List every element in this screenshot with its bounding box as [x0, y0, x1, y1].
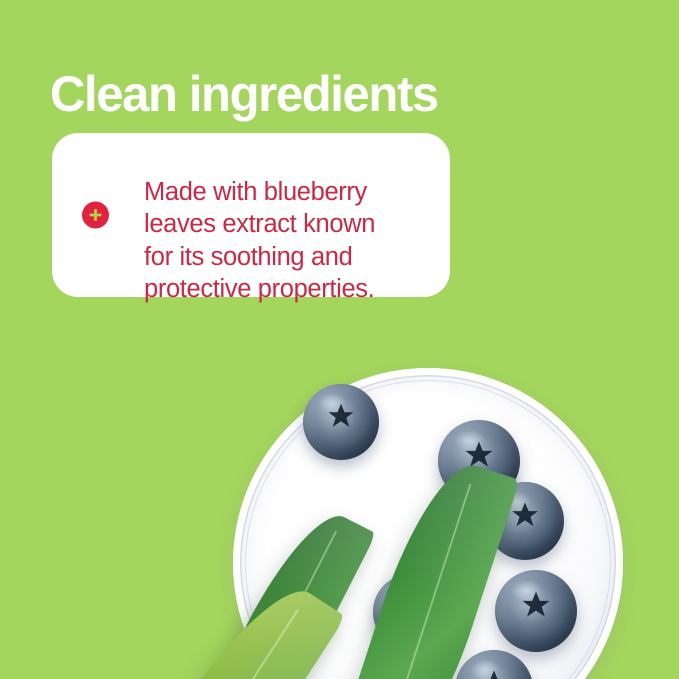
- page-title: Clean ingredients: [50, 66, 438, 122]
- leaf-vein: [139, 609, 298, 679]
- leaf-vein: [383, 484, 471, 679]
- leaf-sheen: [334, 452, 520, 679]
- blueberry-bottom-edge: [455, 650, 533, 679]
- blueberry-top-left: [303, 384, 379, 460]
- berry-bloom: [495, 570, 577, 652]
- berry-bloom: [455, 650, 533, 679]
- berry-calyx-icon: [478, 668, 511, 679]
- berry-highlight: [318, 393, 347, 413]
- berry-highlight: [511, 580, 542, 601]
- ingredient-callout-card: Made with blueberry leaves extract known…: [52, 133, 450, 297]
- leaf-dark-main: [334, 452, 520, 679]
- blueberry-bottom-right: [495, 570, 577, 652]
- plus-icon: [82, 202, 109, 229]
- berry-bloom: [303, 384, 379, 460]
- callout-line-3: for its soothing and: [144, 241, 436, 274]
- berry-highlight: [471, 659, 501, 679]
- berry-calyx-icon: [325, 401, 357, 433]
- petri-dish: [233, 368, 623, 679]
- callout-line-2: leaves extract known: [144, 208, 436, 241]
- berry-calyx-icon: [519, 589, 553, 623]
- callout-line-4: protective properties.: [144, 273, 436, 306]
- berry-highlight: [454, 430, 485, 451]
- berry-calyx-icon: [509, 500, 542, 533]
- callout-line-1: Made with blueberry: [144, 175, 436, 208]
- product-photo: [0, 330, 679, 679]
- promo-banner: Clean ingredients Made with blueberry le…: [0, 0, 679, 679]
- callout-text: Made with blueberry leaves extract known…: [144, 175, 436, 306]
